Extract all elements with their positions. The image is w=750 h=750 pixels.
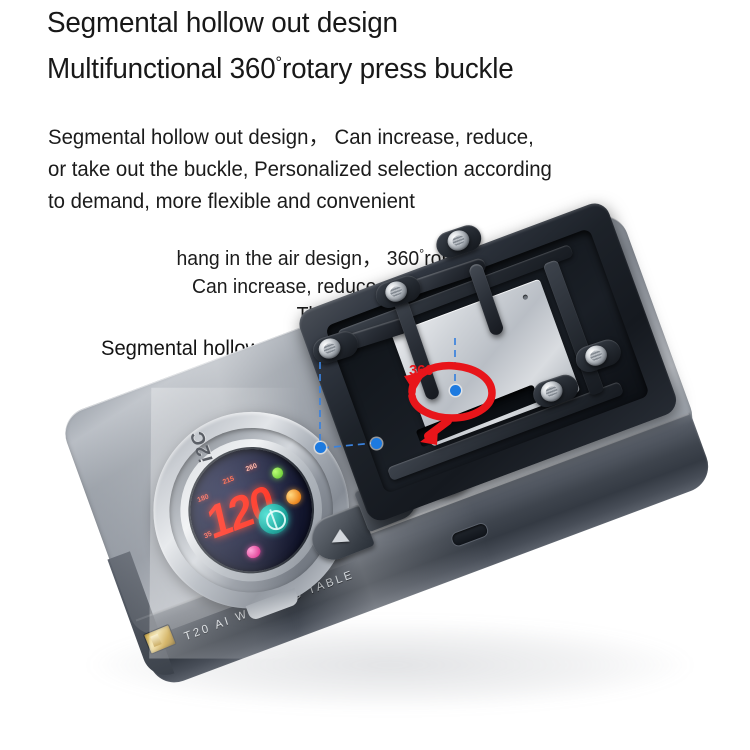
product-photo: T20 AI WELDING TABLE 180 215 260 35 120 — [0, 0, 750, 750]
screen-tick-2: 215 — [222, 475, 235, 486]
screen-tick-3: 260 — [245, 463, 258, 474]
triangle-icon — [331, 529, 350, 543]
status-dot-green — [271, 466, 285, 480]
leader-dot-left-end — [371, 438, 382, 449]
status-dot-orange — [284, 487, 303, 506]
status-dot-pink — [245, 544, 262, 560]
rotation-badge: 360° — [409, 362, 439, 379]
plate-hole — [522, 294, 528, 300]
leader-dot-left-screw — [315, 442, 326, 453]
leader-dot-right-screw — [450, 385, 461, 396]
device-body: T20 AI WELDING TABLE 180 215 260 35 120 — [58, 204, 729, 690]
product-marketing-image: Segmental hollow out design Multifunctio… — [0, 0, 750, 750]
